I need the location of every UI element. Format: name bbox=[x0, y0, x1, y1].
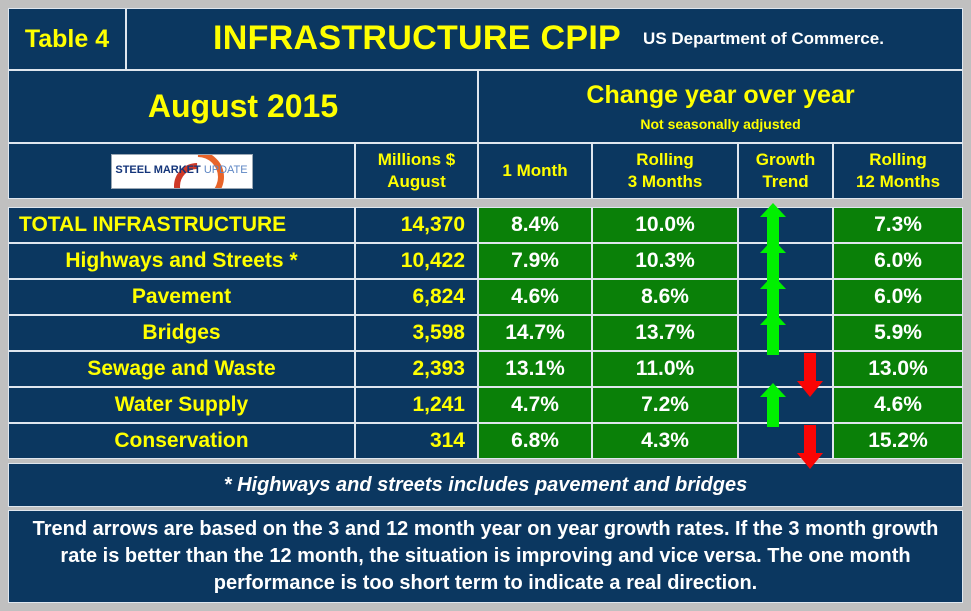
cell-rolling-12-months: 5.9% bbox=[833, 315, 963, 351]
cell-one-month: 8.4% bbox=[478, 207, 592, 243]
cell-one-month: 14.7% bbox=[478, 315, 592, 351]
trend-up-arrow-icon bbox=[760, 311, 786, 357]
cell-millions-august: 14,370 bbox=[355, 207, 478, 243]
row-label: Sewage and Waste bbox=[8, 351, 355, 387]
column-header-one-month-label: 1 Month bbox=[502, 162, 567, 180]
cell-rolling-12-months: 6.0% bbox=[833, 279, 963, 315]
cell-rolling-3-months: 10.3% bbox=[592, 243, 738, 279]
table-frame: Table 4 INFRASTRUCTURE CPIP US Departmen… bbox=[8, 8, 963, 603]
cell-millions-august: 314 bbox=[355, 423, 478, 459]
logo-text: STEEL MARKET UPDATE bbox=[115, 165, 247, 177]
cell-rolling-3-months: 7.2% bbox=[592, 387, 738, 423]
cell-one-month: 13.1% bbox=[478, 351, 592, 387]
logo-text-steel: STEEL bbox=[115, 164, 150, 176]
cell-millions-august: 1,241 bbox=[355, 387, 478, 423]
cell-rolling-3-months: 4.3% bbox=[592, 423, 738, 459]
row-label: Highways and Streets * bbox=[8, 243, 355, 279]
trend-down-arrow-icon bbox=[797, 425, 823, 471]
column-header-rolling3-line2: 3 Months bbox=[628, 173, 703, 191]
column-header-rolling-12-months: Rolling 12 Months bbox=[833, 143, 963, 199]
trend-down-arrow-icon bbox=[797, 353, 823, 399]
column-header-rolling12-line2: 12 Months bbox=[856, 173, 940, 191]
page-title: INFRASTRUCTURE CPIP bbox=[213, 21, 621, 57]
logo-text-market: MARKET bbox=[154, 164, 201, 176]
cell-rolling-12-months: 6.0% bbox=[833, 243, 963, 279]
steel-market-update-logo: STEEL MARKET UPDATE bbox=[111, 154, 253, 189]
column-header-rolling3-line1: Rolling bbox=[636, 151, 694, 169]
change-heading-title: Change year over year bbox=[586, 82, 854, 108]
column-header-millions: Millions $ August bbox=[355, 143, 478, 199]
cell-millions-august: 3,598 bbox=[355, 315, 478, 351]
cell-rolling-3-months: 8.6% bbox=[592, 279, 738, 315]
cell-rolling-12-months: 15.2% bbox=[833, 423, 963, 459]
column-header-growth-trend: Growth Trend bbox=[738, 143, 833, 199]
column-header-growth-line2: Trend bbox=[762, 173, 808, 191]
cell-rolling-12-months: 7.3% bbox=[833, 207, 963, 243]
cell-millions-august: 10,422 bbox=[355, 243, 478, 279]
trend-up-arrow-icon bbox=[760, 383, 786, 429]
row-label: Conservation bbox=[8, 423, 355, 459]
table-number-badge: Table 4 bbox=[8, 8, 126, 70]
cell-one-month: 4.6% bbox=[478, 279, 592, 315]
column-header-rolling-3-months: Rolling 3 Months bbox=[592, 143, 738, 199]
row-label: Pavement bbox=[8, 279, 355, 315]
cell-rolling-12-months: 4.6% bbox=[833, 387, 963, 423]
cell-one-month: 6.8% bbox=[478, 423, 592, 459]
data-source-label: US Department of Commerce. bbox=[643, 30, 884, 48]
cell-rolling-3-months: 11.0% bbox=[592, 351, 738, 387]
change-heading: Change year over year Not seasonally adj… bbox=[478, 70, 963, 143]
brand-logo-cell: STEEL MARKET UPDATE bbox=[8, 143, 355, 199]
column-header-rolling12-line1: Rolling bbox=[869, 151, 927, 169]
row-label: TOTAL INFRASTRUCTURE bbox=[8, 207, 355, 243]
cell-one-month: 7.9% bbox=[478, 243, 592, 279]
cell-one-month: 4.7% bbox=[478, 387, 592, 423]
cell-rolling-3-months: 13.7% bbox=[592, 315, 738, 351]
period-heading: August 2015 bbox=[8, 70, 478, 143]
cell-millions-august: 6,824 bbox=[355, 279, 478, 315]
trend-explanation-note: Trend arrows are based on the 3 and 12 m… bbox=[8, 510, 963, 603]
row-label: Water Supply bbox=[8, 387, 355, 423]
column-header-growth-line1: Growth bbox=[756, 151, 816, 169]
column-header-one-month: 1 Month bbox=[478, 143, 592, 199]
cell-rolling-12-months: 13.0% bbox=[833, 351, 963, 387]
column-header-millions-line2: August bbox=[387, 173, 446, 191]
change-heading-subtitle: Not seasonally adjusted bbox=[640, 117, 800, 132]
logo-text-update: UPDATE bbox=[204, 164, 248, 176]
table-title-bar: INFRASTRUCTURE CPIP US Department of Com… bbox=[126, 8, 963, 70]
cell-rolling-3-months: 10.0% bbox=[592, 207, 738, 243]
cell-millions-august: 2,393 bbox=[355, 351, 478, 387]
row-label: Bridges bbox=[8, 315, 355, 351]
column-header-millions-line1: Millions $ bbox=[378, 151, 455, 169]
